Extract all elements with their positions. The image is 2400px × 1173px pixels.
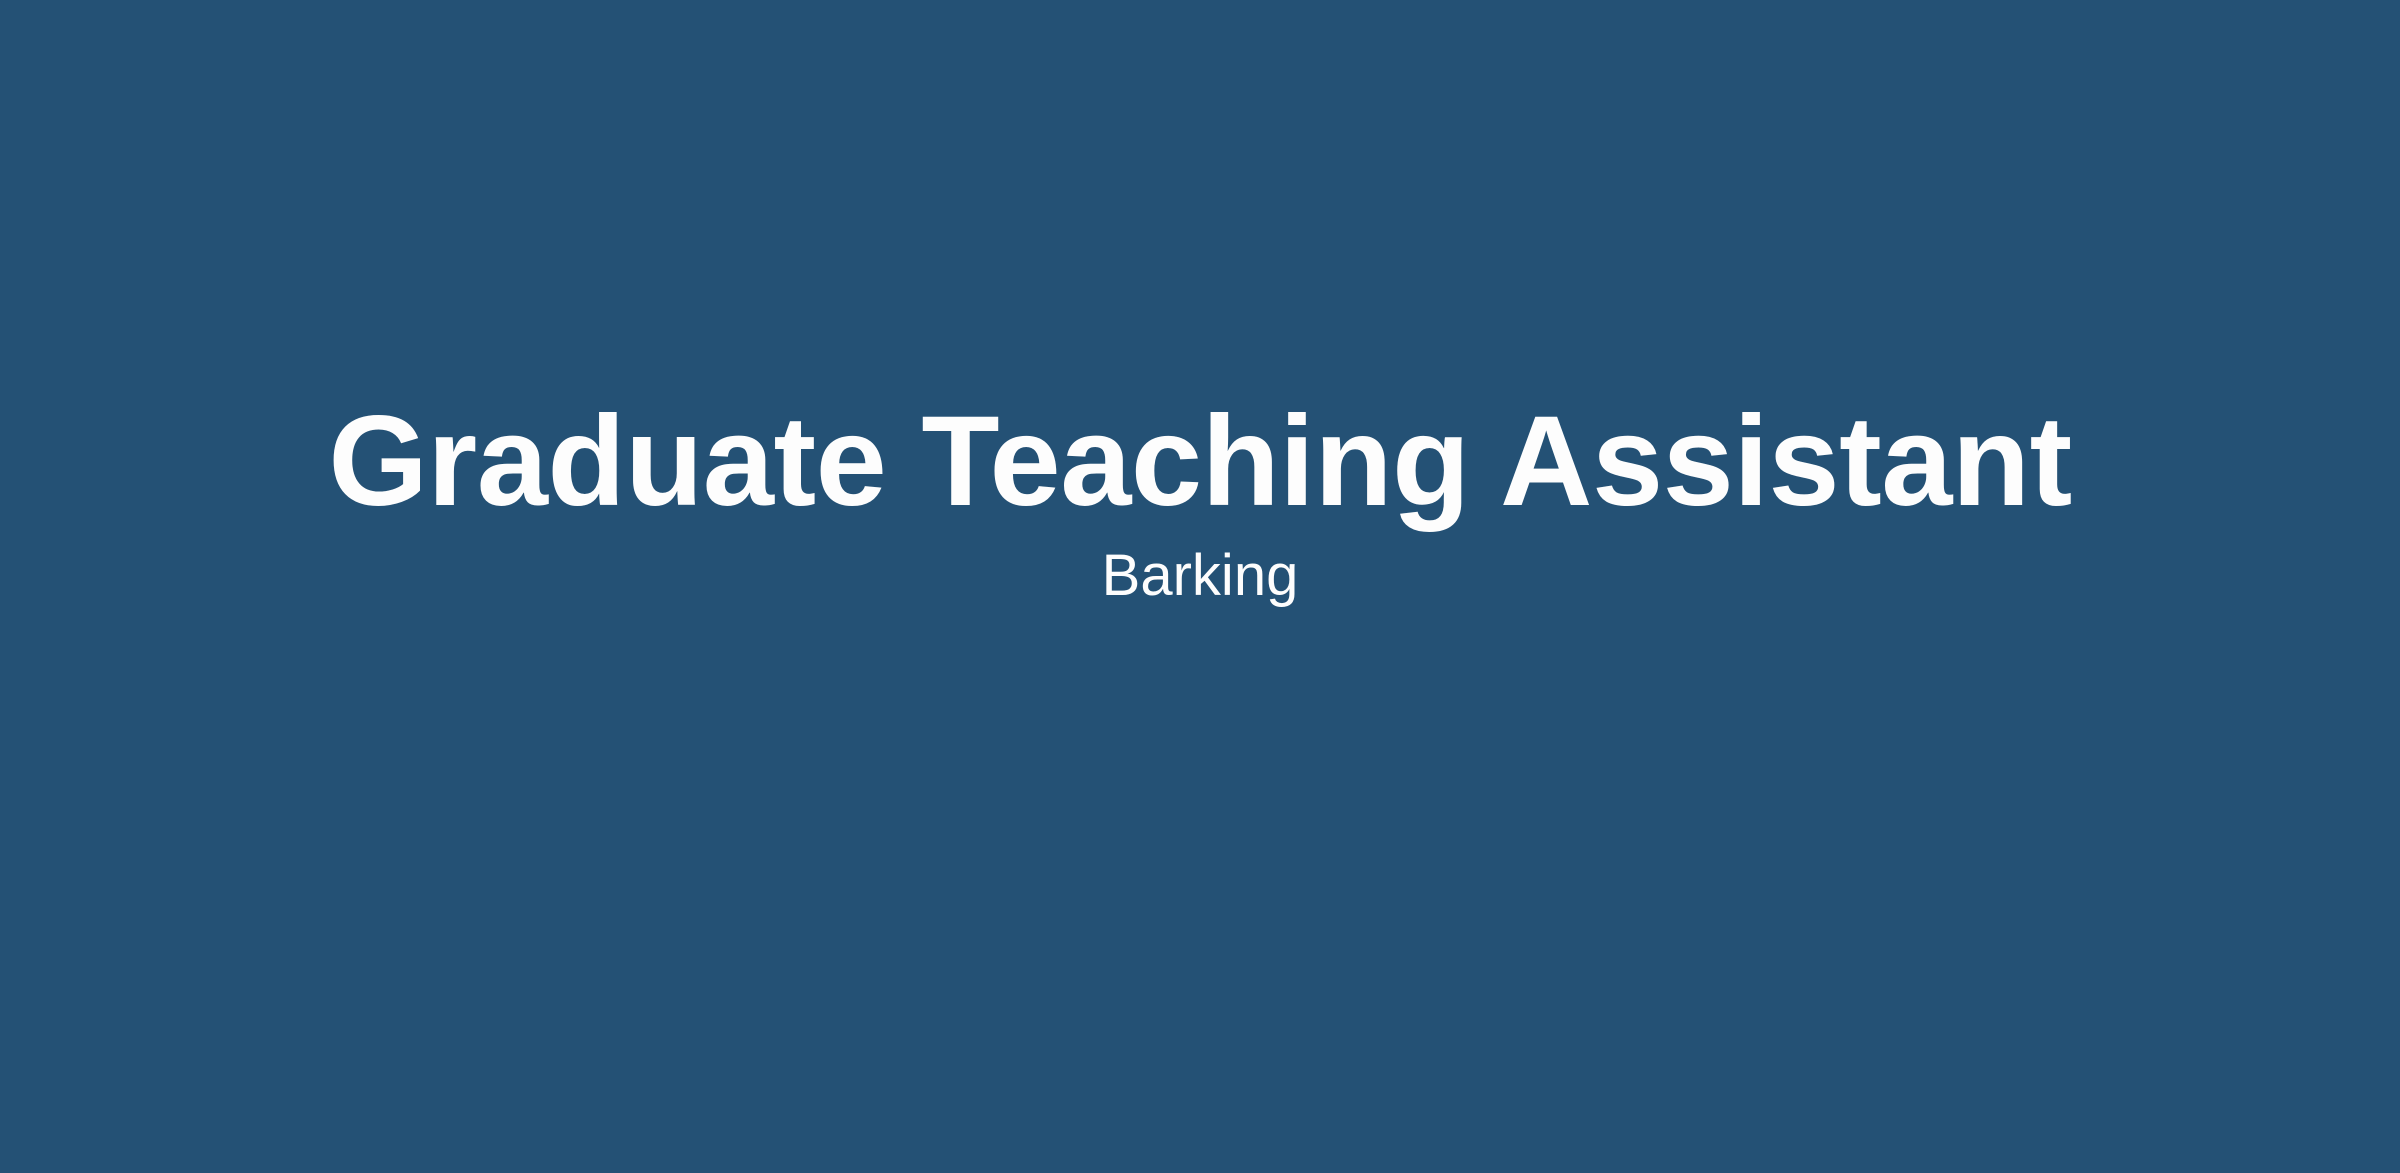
banner-text-block: Graduate Teaching Assistant Barking [0, 398, 2400, 608]
job-location: Barking [1102, 544, 1299, 608]
job-title: Graduate Teaching Assistant [328, 398, 2071, 526]
job-header-banner: Graduate Teaching Assistant Barking [0, 0, 2400, 1173]
